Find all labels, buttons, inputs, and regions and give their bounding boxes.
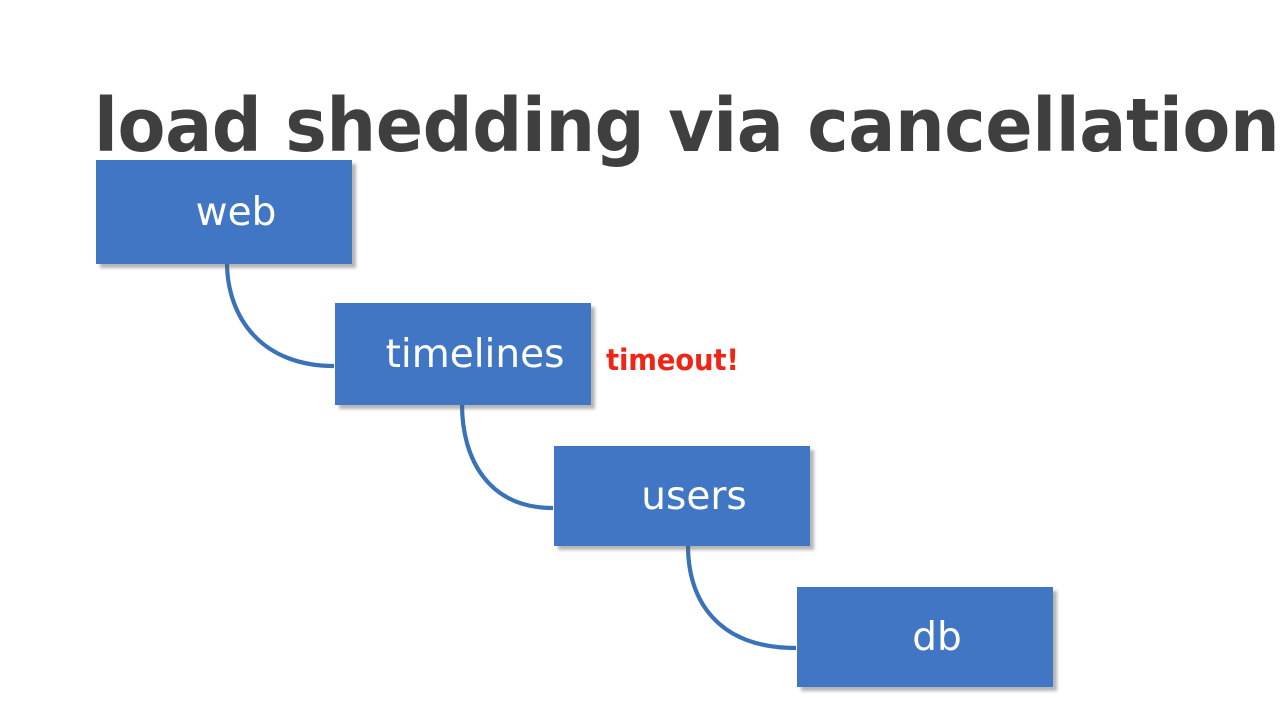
node-db[interactable]: db xyxy=(797,587,1053,687)
node-users[interactable]: users xyxy=(554,446,810,546)
node-timelines[interactable]: timelines xyxy=(335,303,591,405)
node-users-label: users xyxy=(641,477,746,516)
slide-canvas: load shedding via cancellation web timel… xyxy=(0,0,1288,725)
node-db-label: db xyxy=(912,618,962,657)
node-web[interactable]: web xyxy=(96,160,352,264)
connector-users-to-db xyxy=(688,545,796,648)
connector-web-to-timelines xyxy=(227,262,334,366)
timeout-annotation: timeout! xyxy=(606,341,739,379)
node-timelines-label: timelines xyxy=(386,335,565,374)
node-web-label: web xyxy=(196,193,277,232)
connector-timelines-to-users xyxy=(462,404,553,508)
